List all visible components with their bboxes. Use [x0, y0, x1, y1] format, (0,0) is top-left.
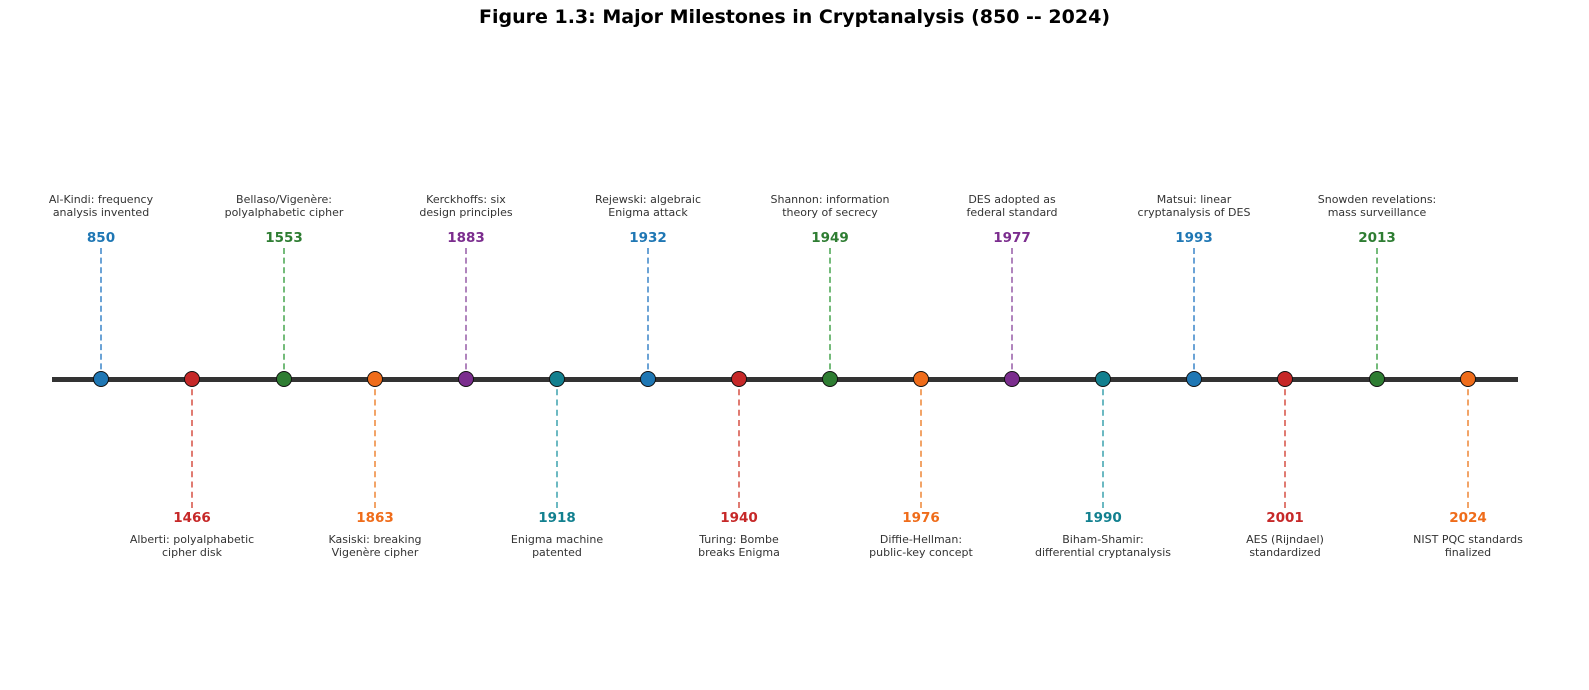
milestone-marker-dot[interactable] — [93, 371, 109, 387]
milestone-marker-dot[interactable] — [1460, 371, 1476, 387]
milestone-description: Biham-Shamir:differential cryptanalysis — [998, 534, 1208, 559]
milestone-marker-dot[interactable] — [184, 371, 200, 387]
milestone-description-line1: Snowden revelations: — [1272, 194, 1482, 207]
milestone-year-label: 1976 — [831, 510, 1011, 526]
milestone-description: Enigma machinepatented — [452, 534, 662, 559]
milestone-description-line1: Matsui: linear — [1089, 194, 1299, 207]
timeline-figure: Figure 1.3: Major Milestones in Cryptana… — [0, 0, 1589, 690]
milestone-year-label: 1918 — [467, 510, 647, 526]
milestone-stem — [374, 379, 376, 508]
milestone-description-line1: Turing: Bombe — [634, 534, 844, 547]
milestone-description-line2: patented — [452, 547, 662, 560]
milestone-description-line2: finalized — [1363, 547, 1573, 560]
milestone-year-label: 1977 — [922, 230, 1102, 246]
milestone-description: AES (Rijndael)standardized — [1180, 534, 1390, 559]
milestone-stem — [647, 248, 649, 379]
milestone-year-label: 1932 — [558, 230, 738, 246]
milestone-description: Kasiski: breakingVigenère cipher — [270, 534, 480, 559]
milestone-description-line1: Enigma machine — [452, 534, 662, 547]
milestone-description-line2: cipher disk — [87, 547, 297, 560]
milestone-year-label: 1466 — [102, 510, 282, 526]
milestone-description-line2: public-key concept — [816, 547, 1026, 560]
milestone-marker-dot[interactable] — [822, 371, 838, 387]
milestone-description-line1: Diffie-Hellman: — [816, 534, 1026, 547]
milestone-description-line2: cryptanalysis of DES — [1089, 207, 1299, 220]
milestone-description-line2: federal standard — [907, 207, 1117, 220]
milestone-description: Matsui: linearcryptanalysis of DES — [1089, 194, 1299, 219]
milestone-description-line2: differential cryptanalysis — [998, 547, 1208, 560]
milestone-description-line1: Al-Kindi: frequency — [0, 194, 206, 207]
milestone-marker-dot[interactable] — [1095, 371, 1111, 387]
milestone-stem — [1102, 379, 1104, 508]
milestone-marker-dot[interactable] — [1186, 371, 1202, 387]
milestone-year-label: 1863 — [285, 510, 465, 526]
milestone-year-label: 2001 — [1195, 510, 1375, 526]
milestone-stem — [283, 248, 285, 379]
milestone-description-line2: breaks Enigma — [634, 547, 844, 560]
milestone-description-line1: NIST PQC standards — [1363, 534, 1573, 547]
milestone-description-line1: AES (Rijndael) — [1180, 534, 1390, 547]
milestone-stem — [556, 379, 558, 508]
milestone-description-line1: Shannon: information — [725, 194, 935, 207]
milestone-year-label: 1990 — [1013, 510, 1193, 526]
milestone-stem — [465, 248, 467, 379]
milestone-marker-dot[interactable] — [1369, 371, 1385, 387]
milestone-stem — [920, 379, 922, 508]
milestone-description: DES adopted asfederal standard — [907, 194, 1117, 219]
milestone-description-line1: Kerckhoffs: six — [361, 194, 571, 207]
milestone-description: Turing: Bombebreaks Enigma — [634, 534, 844, 559]
milestone-stem — [1376, 248, 1378, 379]
milestone-description: Al-Kindi: frequencyanalysis invented — [0, 194, 206, 219]
page-title: Figure 1.3: Major Milestones in Cryptana… — [0, 6, 1589, 28]
milestone-year-label: 1883 — [376, 230, 556, 246]
milestone-description-line1: Biham-Shamir: — [998, 534, 1208, 547]
milestone-marker-dot[interactable] — [367, 371, 383, 387]
milestone-description: Shannon: informationtheory of secrecy — [725, 194, 935, 219]
milestone-stem — [100, 248, 102, 379]
milestone-year-label: 1940 — [649, 510, 829, 526]
milestone-description-line1: Rejewski: algebraic — [543, 194, 753, 207]
milestone-stem — [1284, 379, 1286, 508]
milestone-year-label: 2024 — [1378, 510, 1558, 526]
milestone-description-line2: standardized — [1180, 547, 1390, 560]
milestone-description-line2: mass surveillance — [1272, 207, 1482, 220]
milestone-year-label: 1949 — [740, 230, 920, 246]
milestone-description: Alberti: polyalphabeticcipher disk — [87, 534, 297, 559]
milestone-stem — [738, 379, 740, 508]
milestone-year-label: 1553 — [194, 230, 374, 246]
milestone-description-line1: Bellaso/Vigenère: — [179, 194, 389, 207]
milestone-description-line2: Vigenère cipher — [270, 547, 480, 560]
milestone-stem — [1467, 379, 1469, 508]
milestone-description-line2: analysis invented — [0, 207, 206, 220]
milestone-description: Bellaso/Vigenère:polyalphabetic cipher — [179, 194, 389, 219]
milestone-marker-dot[interactable] — [731, 371, 747, 387]
milestone-stem — [1193, 248, 1195, 379]
milestone-description-line2: theory of secrecy — [725, 207, 935, 220]
milestone-marker-dot[interactable] — [913, 371, 929, 387]
milestone-stem — [829, 248, 831, 379]
milestone-stem — [191, 379, 193, 508]
timeline-axis — [52, 377, 1518, 382]
milestone-marker-dot[interactable] — [640, 371, 656, 387]
milestone-marker-dot[interactable] — [1277, 371, 1293, 387]
milestone-description-line2: polyalphabetic cipher — [179, 207, 389, 220]
milestone-description: Kerckhoffs: sixdesign principles — [361, 194, 571, 219]
milestone-description: NIST PQC standardsfinalized — [1363, 534, 1573, 559]
milestone-description: Rejewski: algebraicEnigma attack — [543, 194, 753, 219]
milestone-marker-dot[interactable] — [276, 371, 292, 387]
milestone-description: Snowden revelations:mass surveillance — [1272, 194, 1482, 219]
milestone-year-label: 850 — [11, 230, 191, 246]
milestone-marker-dot[interactable] — [549, 371, 565, 387]
milestone-description-line1: Alberti: polyalphabetic — [87, 534, 297, 547]
milestone-marker-dot[interactable] — [458, 371, 474, 387]
milestone-stem — [1011, 248, 1013, 379]
milestone-description-line1: DES adopted as — [907, 194, 1117, 207]
milestone-year-label: 1993 — [1104, 230, 1284, 246]
milestone-description-line2: Enigma attack — [543, 207, 753, 220]
milestone-description-line1: Kasiski: breaking — [270, 534, 480, 547]
milestone-marker-dot[interactable] — [1004, 371, 1020, 387]
milestone-year-label: 2013 — [1287, 230, 1467, 246]
milestone-description: Diffie-Hellman:public-key concept — [816, 534, 1026, 559]
milestone-description-line2: design principles — [361, 207, 571, 220]
